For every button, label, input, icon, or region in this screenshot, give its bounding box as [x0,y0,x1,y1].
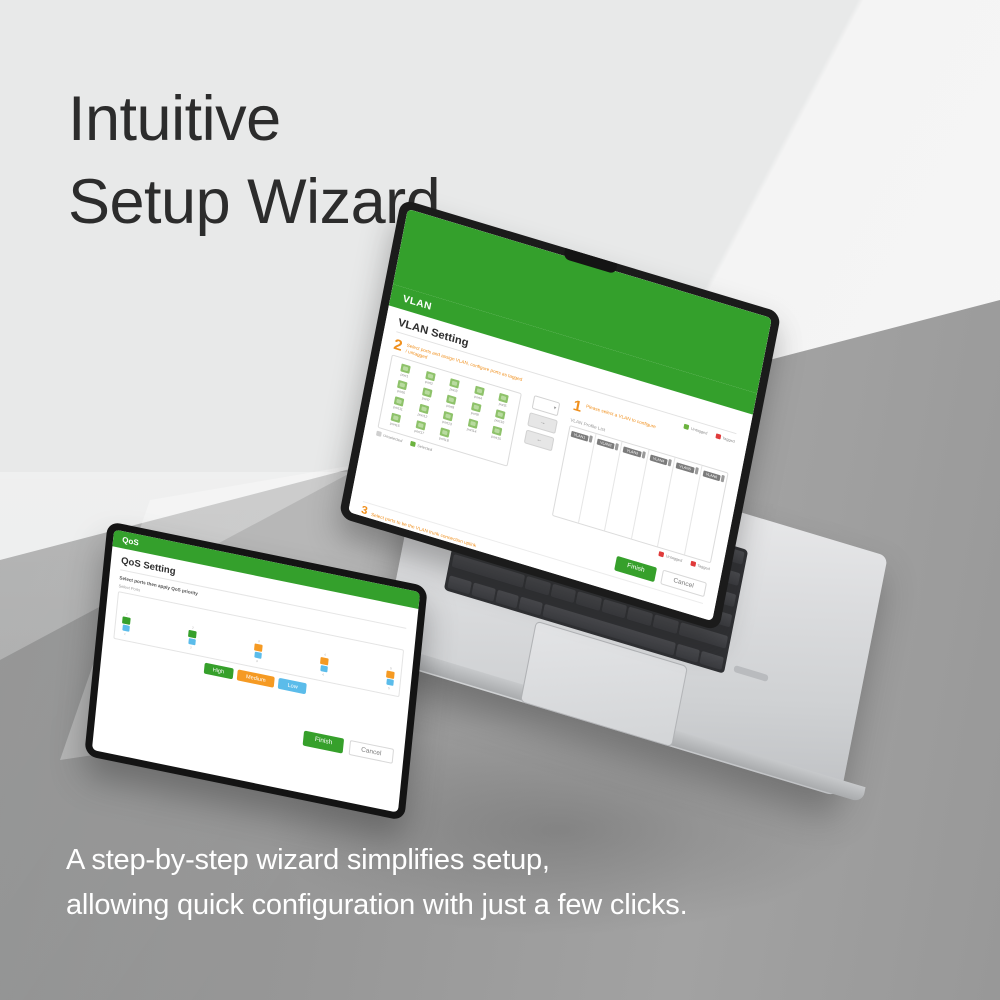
qos-port-item[interactable]: 2 2 [187,625,197,650]
priority-medium-button[interactable]: Medium [237,669,276,688]
vlan-column-header: VLAN1 [570,430,593,443]
vlan-column-header: VLAN2 [597,438,620,451]
vlan-chip: VLAN5 [676,462,695,473]
headline-line-1: Intuitive [68,78,708,161]
vlan-chip: VLAN1 [570,430,589,441]
port-item[interactable]: port2 [418,369,442,388]
vlan-bar-icon [721,475,725,483]
vlan-bar-icon [694,467,698,475]
priority-low-button[interactable]: Low [278,678,307,695]
vlan-bar-icon [641,451,645,459]
vlan-chip: VLAN6 [702,470,721,481]
port-item[interactable]: port7 [415,385,439,404]
vlan-chip: VLAN3 [623,446,642,457]
vlan-column-header: VLAN4 [649,454,672,467]
qos-port-number: 3 [256,659,258,663]
legend-label: Selected [417,443,433,451]
qos-port-top-number: 1 [126,612,128,616]
headline-line-2: Setup Wizard [68,161,708,244]
port-item[interactable]: port6 [390,378,414,397]
remove-from-vlan-button[interactable]: ← [524,430,555,452]
finish-button[interactable]: Finish [303,731,344,754]
vlan-bar-icon [589,435,593,443]
qos-port-number: 2 [190,645,192,649]
tagged-swatch-icon [715,433,721,439]
qos-port-number: 4 [322,672,324,676]
legend-label: Tagged [697,563,710,571]
qos-port-item[interactable]: 5 5 [385,665,395,690]
step-3-number: 3 [360,505,368,517]
qos-port-number: 5 [388,686,390,690]
port-icon [122,624,130,631]
tablet-device: QoS QoS Setting Select ports then apply … [86,545,426,825]
port-icon [320,665,328,672]
trunk-port-button[interactable] [357,522,373,536]
qos-body: QoS Setting Select ports then apply QoS … [96,546,419,773]
keyboard-key-cmd-right[interactable] [676,644,700,663]
port-item[interactable]: port9 [464,400,488,419]
port-item[interactable]: port16 [384,411,408,430]
qos-port-top-number: 5 [390,666,392,670]
port-item[interactable]: port14 [460,417,484,436]
port-item[interactable]: port4 [467,384,491,403]
qos-port-top-number: 2 [192,626,194,630]
page-title: Intuitive Setup Wizard [68,78,708,244]
qos-port-item[interactable]: 4 4 [319,652,329,677]
port-item[interactable]: port5 [491,391,515,410]
selected-swatch-icon [410,441,416,447]
port-item[interactable]: port15 [485,424,509,443]
keyboard-key-ctrl[interactable] [471,582,495,601]
keyboard-key-fn[interactable] [447,575,471,594]
port-item[interactable]: port10 [488,408,512,427]
tablet-screen: QoS QoS Setting Select ports then apply … [92,529,420,812]
keyboard-key-cmd[interactable] [519,597,543,616]
vlan-chip: VLAN4 [649,454,668,465]
port-icon [188,638,196,645]
keyboard-key-arrow[interactable] [700,651,724,670]
tagged-swatch-icon [690,561,696,567]
trunk-port-button[interactable] [375,528,391,542]
tablet-bezel: QoS QoS Setting Select ports then apply … [84,521,428,821]
untagged-swatch-icon [658,551,664,557]
port-item[interactable]: port18 [433,426,457,445]
unselected-swatch-icon [376,431,382,437]
vlan-column-header: VLAN3 [623,446,646,459]
port-icon [254,651,262,658]
qos-port-number: 1 [124,632,126,636]
laptop-device: VLAN VLAN Setting 2 Select ports and ass… [352,238,872,798]
vlan-app-title: VLAN [402,293,433,312]
port-item[interactable]: port13 [436,409,460,428]
port-item[interactable]: port12 [411,402,435,421]
qos-port-top-number: 4 [324,653,326,657]
step-1-number: 1 [572,398,583,415]
legend-label: Untagged [665,554,682,563]
port-icon [386,678,394,685]
vlan-chip: VLAN2 [597,438,616,449]
qos-port-item[interactable]: 1 1 [121,611,131,636]
caption-line-2: allowing quick configuration with just a… [66,883,966,928]
qos-port-top-number: 3 [258,639,260,643]
port-item[interactable]: port1 [393,362,417,381]
port-item[interactable]: port3 [442,376,466,395]
vlan-column-header: VLAN5 [676,462,699,475]
caption: A step-by-step wizard simplifies setup, … [66,838,966,928]
promo-banner: Intuitive Setup Wizard [0,0,1000,1000]
port-item[interactable]: port11 [387,394,411,413]
port-item[interactable]: port8 [439,393,463,412]
qos-port-item[interactable]: 3 3 [253,638,263,663]
qos-app-title: QoS [122,535,139,547]
vlan-bar-icon [668,459,672,467]
untagged-swatch-icon [683,424,689,430]
port-item[interactable]: port17 [408,418,432,437]
priority-high-button[interactable]: High [203,662,233,679]
vlan-bar-icon [615,443,619,451]
vlan-column-header: VLAN6 [702,469,725,482]
caption-line-1: A step-by-step wizard simplifies setup, [66,838,966,883]
keyboard-key-opt[interactable] [495,590,519,609]
step-2-number: 2 [392,337,403,354]
cancel-button[interactable]: Cancel [348,740,394,764]
